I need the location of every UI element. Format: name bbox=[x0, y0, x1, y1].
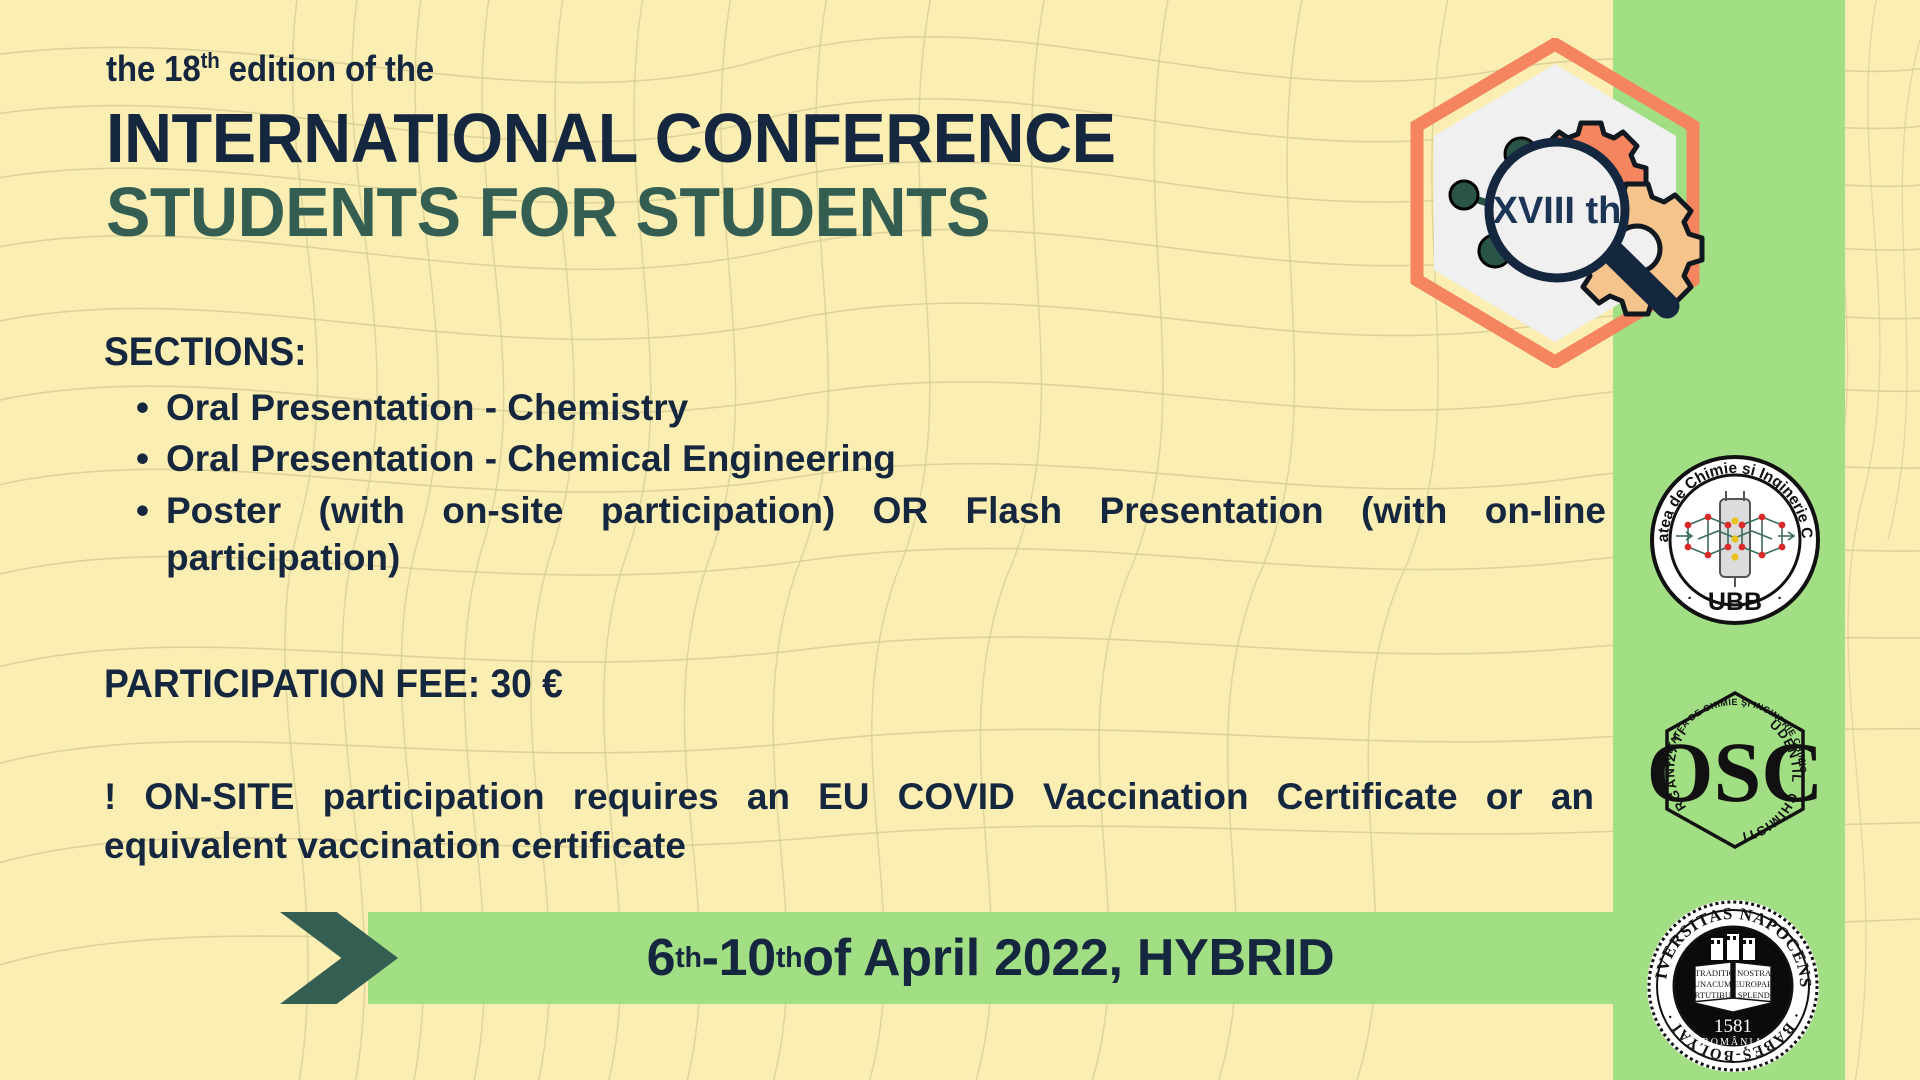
edition-roman-numeral: XVIII th bbox=[1493, 190, 1622, 232]
osc-student-chemists-organization-seal: FACULTATEA DE CHIMIE ŞI INGINERIE CHIMIC… bbox=[1648, 683, 1822, 857]
edition-eyebrow: the 18th edition of the bbox=[106, 48, 434, 90]
svg-text:VIRTUTIBUS SPLENDET: VIRTUTIBUS SPLENDET bbox=[1686, 990, 1781, 1000]
page-title-line-2: STUDENTS FOR STUDENTS bbox=[106, 172, 990, 252]
eyebrow-post-text: edition of the bbox=[220, 48, 434, 89]
svg-text:·: · bbox=[1688, 590, 1693, 607]
date-day-end: 10 bbox=[719, 928, 776, 988]
bullet-icon: • bbox=[136, 487, 166, 534]
universitas-napocensis-babes-bolyai-seal: UNIVERSITAS NAPOCENSIS · BABEŞ-BOLYAI · … bbox=[1645, 898, 1821, 1074]
participation-fee: PARTICIPATION FEE: 30 € bbox=[104, 662, 563, 707]
eyebrow-ordinal-suffix: th bbox=[201, 48, 220, 73]
sections-list: • Oral Presentation - Chemistry • Oral P… bbox=[136, 384, 1606, 585]
date-rest: of April 2022, HYBRID bbox=[802, 928, 1334, 988]
section-label: Poster (with on-site participation) OR F… bbox=[166, 487, 1606, 582]
seal-year: 1581 bbox=[1714, 1016, 1752, 1037]
sections-heading: SECTIONS: bbox=[104, 330, 307, 375]
date-day-start: 6 bbox=[647, 928, 676, 988]
svg-text:TRADITIO NOSTRA: TRADITIO NOSTRA bbox=[1695, 968, 1772, 978]
bullet-icon: • bbox=[136, 435, 166, 482]
osc-monogram: OSC bbox=[1648, 724, 1822, 820]
page-title-line-1: INTERNATIONAL CONFERENCE bbox=[106, 98, 1116, 178]
list-item: • Oral Presentation - Chemical Engineeri… bbox=[136, 435, 1606, 482]
conference-dates: 6th- 10th of April 2022, HYBRID bbox=[368, 912, 1613, 1004]
svg-text:UBB: UBB bbox=[1708, 588, 1762, 616]
date-banner: 6th- 10th of April 2022, HYBRID bbox=[280, 912, 1613, 1004]
faculty-of-chemistry-ubb-seal: Facultatea de Chimie şi Inginerie Chimic… bbox=[1650, 455, 1820, 625]
list-item: • Poster (with on-site participation) OR… bbox=[136, 487, 1606, 582]
seal-country: ROMÂNIA bbox=[1702, 1036, 1764, 1048]
svg-text:·: · bbox=[1778, 590, 1783, 607]
covid-requirement-notice: ! ON-SITE participation requires an EU C… bbox=[104, 772, 1594, 870]
list-item: • Oral Presentation - Chemistry bbox=[136, 384, 1606, 431]
svg-text:UNACUM EUROPAE: UNACUM EUROPAE bbox=[1694, 979, 1772, 989]
bullet-icon: • bbox=[136, 384, 166, 431]
section-label: Oral Presentation - Chemical Engineering bbox=[166, 435, 1606, 482]
section-label: Oral Presentation - Chemistry bbox=[166, 384, 1606, 431]
date-separator: - bbox=[702, 928, 719, 988]
conference-edition-hexagon-logo: XVIII th bbox=[1390, 38, 1720, 368]
eyebrow-pre-text: the 18 bbox=[106, 48, 201, 89]
conference-poster: the 18th edition of the INTERNATIONAL CO… bbox=[0, 0, 1920, 1080]
